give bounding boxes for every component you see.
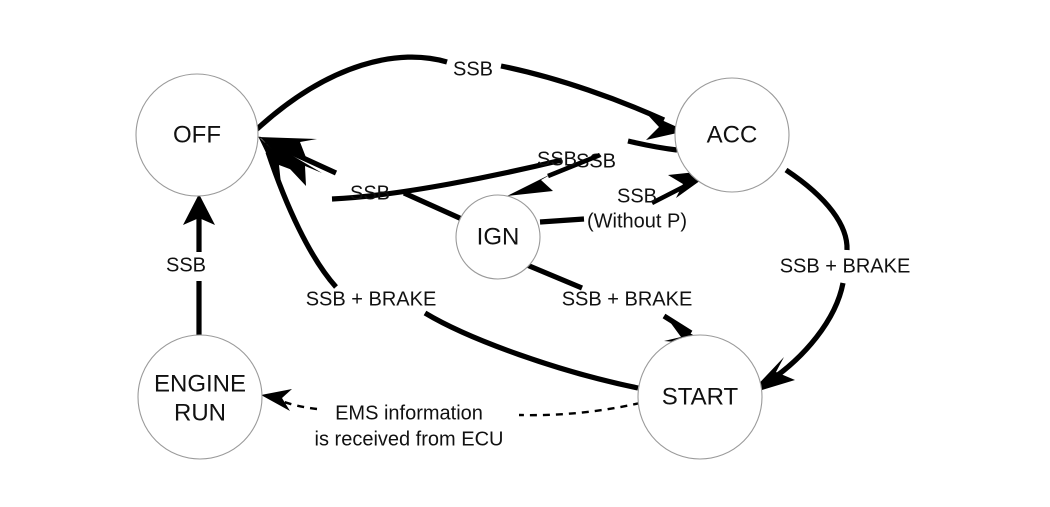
edge-label-ign-to-acc: SSB [617,185,657,207]
node-engine-run[interactable]: ENGINE RUN [138,335,262,459]
edge-acc-to-start-path-lower [768,283,843,382]
edge-ign-to-start: SSB + BRAKE [527,265,711,345]
state-diagram-canvas: SSB SSB SSB SSB SSB (Without [0,0,1050,507]
edge-off-to-acc-path-left [256,57,447,130]
edge-label-off-to-acc: SSB [453,58,493,80]
edge-off-to-acc-path-right [501,66,664,120]
edge-start-to-off: SSB + BRAKE [258,136,638,388]
state-machine-diagram: SSB SSB SSB SSB SSB (Without [0,0,1050,507]
edge-start-to-engine-run-path-right [519,403,640,415]
node-acc-label: ACC [707,121,758,148]
edge-label-start-to-off: SSB + BRAKE [306,288,437,310]
edge-engine-run-to-off: SSB [166,194,215,335]
edge-label-acc-to-start: SSB + BRAKE [780,255,911,277]
edge-acc-to-start: SSB + BRAKE [749,170,910,394]
node-engine-run-label: ENGINE [154,370,246,397]
node-start-label: START [662,383,739,410]
node-start[interactable]: START [638,335,762,459]
edge-start-to-engine-run-arrowhead [261,389,292,411]
edge-start-to-engine-run: EMS information is received from ECU [261,389,640,450]
edge-label-acc-to-ign: SSB [537,148,577,170]
edge-acc-to-ign-arrowhead [507,172,555,196]
node-engine-run-label-secondary: RUN [174,399,226,426]
edge-ign-to-acc-path-lower [540,219,584,222]
edge-start-to-off-path-lower [425,313,638,388]
edge-off-to-acc: SSB [256,57,686,140]
node-off-label: OFF [173,121,221,148]
edge-label-start-to-engine-run: EMS information [335,402,483,424]
node-acc[interactable]: ACC [675,78,789,192]
node-off[interactable]: OFF [136,74,258,196]
edge-label-ign-to-acc-secondary: (Without P) [587,210,687,232]
edge-acc-to-start-path-upper [786,170,847,250]
edge-label-engine-run-to-off: SSB [166,254,206,276]
edge-acc-to-off-path-right [628,141,677,150]
node-ign[interactable]: IGN [456,195,540,279]
edge-ign-to-off-path-lower [404,193,464,220]
edge-label-ign-to-off: SSB [350,182,390,204]
edge-label-start-to-engine-run-secondary: is received from ECU [315,428,504,450]
edge-ign-to-start-path-upper [527,265,582,288]
edge-label-ign-to-start: SSB + BRAKE [562,288,693,310]
edge-ign-to-acc: SSB (Without P) [540,170,715,232]
node-ign-label: IGN [477,223,520,250]
